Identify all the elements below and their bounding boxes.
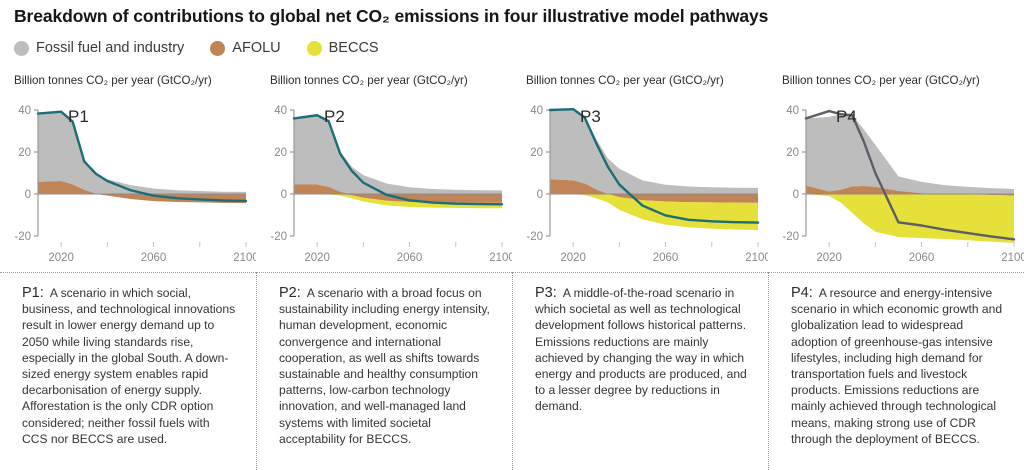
legend-label: AFOLU [232, 40, 280, 56]
legend-label: Fossil fuel and industry [36, 40, 184, 56]
caption-text: A resource and energy-intensive scenario… [791, 286, 1002, 446]
caption-text: A scenario in which social, business, an… [22, 286, 235, 446]
legend-item: Fossil fuel and industry [14, 40, 184, 56]
panel-tag: P3 [580, 107, 601, 126]
x-tick-label: 2100 [489, 252, 512, 264]
caption-text: A scenario with a broad focus on sustain… [279, 286, 490, 446]
caption-key: P2: [279, 285, 301, 301]
y-tick-label: -20 [782, 231, 799, 243]
y-tick-label: -20 [270, 231, 287, 243]
y-tick-label: 40 [786, 105, 799, 117]
chart-p1: -2002040202020602100P1 [0, 88, 256, 274]
y-tick-label: 0 [25, 189, 31, 201]
y-axis-title: Billion tonnes CO₂ per year (GtCO₂/yr) [270, 74, 468, 87]
circle-swatch-icon [14, 41, 29, 56]
y-tick-label: -20 [526, 231, 543, 243]
panel-tag: P4 [836, 107, 857, 126]
chart-panel-p4: Billion tonnes CO₂ per year (GtCO₂/yr)-2… [768, 74, 1024, 274]
x-tick-label: 2060 [653, 252, 679, 264]
chart-p4: -2002040202020602100P4 [768, 88, 1024, 274]
chart-panel-p1: Billion tonnes CO₂ per year (GtCO₂/yr)-2… [0, 74, 256, 274]
panel-tag: P1 [68, 107, 89, 126]
x-tick-label: 2020 [816, 252, 842, 264]
chart-panel-p3: Billion tonnes CO₂ per year (GtCO₂/yr)-2… [512, 74, 768, 274]
caption-p3: P3: A middle-of-the-road scenario in whi… [512, 272, 768, 470]
y-tick-label: 20 [18, 147, 31, 159]
y-tick-label: 40 [530, 105, 543, 117]
caption-p1: P1: A scenario in which social, business… [0, 272, 256, 470]
y-axis-title: Billion tonnes CO₂ per year (GtCO₂/yr) [14, 74, 212, 87]
x-tick-label: 2020 [304, 252, 330, 264]
y-tick-label: 0 [793, 189, 799, 201]
y-tick-label: 0 [537, 189, 543, 201]
x-tick-label: 2020 [560, 252, 586, 264]
y-tick-label: 20 [274, 147, 287, 159]
y-axis-title: Billion tonnes CO₂ per year (GtCO₂/yr) [526, 74, 724, 87]
y-axis-title: Billion tonnes CO₂ per year (GtCO₂/yr) [782, 74, 980, 87]
y-tick-label: 40 [18, 105, 31, 117]
y-tick-label: 0 [281, 189, 287, 201]
chart-panel-p2: Billion tonnes CO₂ per year (GtCO₂/yr)-2… [256, 74, 512, 274]
caption-key: P1: [22, 285, 44, 301]
caption-key: P3: [535, 285, 557, 301]
caption-key: P4: [791, 285, 813, 301]
chart-panels: Billion tonnes CO₂ per year (GtCO₂/yr)-2… [0, 74, 1024, 274]
caption-p2: P2: A scenario with a broad focus on sus… [256, 272, 512, 470]
x-tick-label: 2020 [48, 252, 74, 264]
y-tick-label: 20 [530, 147, 543, 159]
legend-label: BECCS [329, 40, 379, 56]
x-tick-label: 2060 [141, 252, 167, 264]
caption-text: A middle-of-the-road scenario in which s… [535, 286, 747, 413]
legend: Fossil fuel and industryAFOLUBECCS [14, 40, 379, 56]
caption-row: P1: A scenario in which social, business… [0, 272, 1024, 470]
y-tick-label: -20 [14, 231, 31, 243]
chart-p3: -2002040202020602100P3 [512, 88, 768, 274]
caption-p4: P4: A resource and energy-intensive scen… [768, 272, 1024, 470]
x-tick-label: 2100 [1001, 252, 1024, 264]
legend-item: BECCS [307, 40, 379, 56]
legend-item: AFOLU [210, 40, 280, 56]
x-tick-label: 2060 [397, 252, 423, 264]
page-title: Breakdown of contributions to global net… [14, 6, 768, 27]
x-tick-label: 2060 [909, 252, 935, 264]
x-tick-label: 2100 [233, 252, 256, 264]
circle-swatch-icon [210, 41, 225, 56]
y-tick-label: 20 [786, 147, 799, 159]
y-tick-label: 40 [274, 105, 287, 117]
panel-tag: P2 [324, 107, 345, 126]
chart-p2: -2002040202020602100P2 [256, 88, 512, 274]
x-tick-label: 2100 [745, 252, 768, 264]
circle-swatch-icon [307, 41, 322, 56]
